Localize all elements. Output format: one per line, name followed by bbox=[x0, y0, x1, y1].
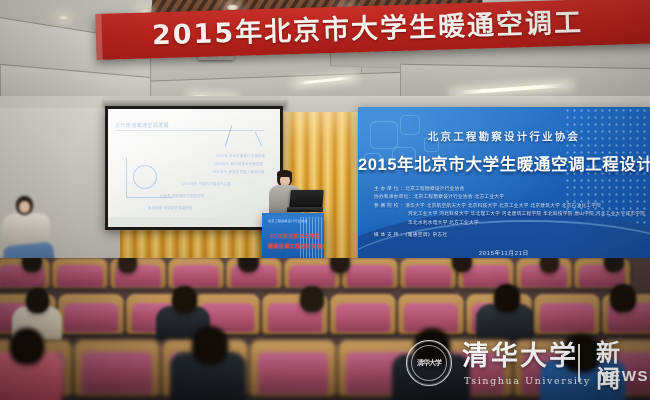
banner-info-line: 华北水利水电大学 北方工业大学 bbox=[374, 219, 642, 227]
attendee-head bbox=[172, 286, 197, 313]
slide-text-line: 1970年代 节能与环保成为主题 bbox=[182, 181, 231, 186]
attendee-head bbox=[494, 284, 520, 312]
projection-screen-surface: 近代暖通暖通空调发展 1902年 开利发明现代空调系统 1920年代 制冷剂技术… bbox=[108, 109, 280, 227]
auditorium-seat bbox=[52, 258, 108, 288]
news-watermark: 清华大学 清华大学 Tsinghua University 新闻 NEWS bbox=[406, 336, 644, 390]
podium-title-line-1: 2015年北京市大学生 bbox=[270, 233, 321, 240]
auditorium-seat bbox=[400, 258, 456, 288]
banner-info-block: 主 办 单 位 ：北京工程勘察设计行业协会 协办和承办单位：北京工程勘察设计行业… bbox=[374, 185, 642, 239]
attendee-head bbox=[26, 288, 49, 313]
auditorium-seat bbox=[168, 258, 224, 288]
blue-backdrop-banner: 北京工程勘察设计行业协会 2015年北京市大学生暖通空调工程设计实践大赛 主 办… bbox=[358, 107, 650, 272]
banner-date: 2015年11月21日 bbox=[358, 249, 650, 257]
banner-organizer-line: 北京工程勘察设计行业协会 bbox=[358, 129, 650, 144]
attendee-head bbox=[330, 258, 350, 273]
slide-text-line: 1950年代 家用空调进入普及阶段 bbox=[212, 169, 265, 174]
slide-footer-bar bbox=[108, 217, 280, 227]
attendee-head bbox=[192, 326, 228, 364]
slide-arrow-icon bbox=[255, 131, 262, 146]
auditorium-seat bbox=[534, 294, 600, 334]
slide-text-line: 1920年代 制冷剂技术快速发展 bbox=[214, 161, 263, 166]
auditorium-seat bbox=[330, 294, 396, 334]
slide-title-rule bbox=[114, 130, 264, 131]
slide-text-line: 近年来 绿色建筑与智能控制 bbox=[160, 193, 204, 198]
banner-info-line: 媒 体 支 持 ：《暖通空调》杂志社 bbox=[374, 231, 642, 239]
attendee-head bbox=[540, 258, 559, 273]
banner-info-line: 河北工业大学 河北科技大学 华北理工大学 河北建筑工程学院 华北科技学院 唐山学… bbox=[374, 210, 642, 218]
tsinghua-seal-icon: 清华大学 bbox=[406, 340, 452, 386]
slide-title: 近代暖通暖通空调发展 bbox=[115, 122, 169, 129]
slide-diagram bbox=[126, 157, 173, 198]
banner-info-line: 主 办 单 位 ：北京工程勘察设计行业协会 bbox=[374, 185, 642, 193]
podium-top-surface bbox=[262, 213, 324, 215]
watermark-university-cn: 清华大学 bbox=[462, 342, 578, 372]
attendee-head bbox=[610, 284, 636, 312]
slide-text-line: 1902年 开利发明现代空调系统 bbox=[216, 153, 265, 158]
watermark-divider bbox=[578, 344, 580, 382]
laptop-screen bbox=[289, 190, 324, 208]
auditorium-seat bbox=[250, 340, 336, 396]
banner-info-line: 协办和承办单位：北京工程勘察设计行业协会 北方工业大学 bbox=[374, 193, 642, 201]
watermark-news-en: NEWS bbox=[598, 368, 649, 385]
projection-screen: 近代暖通暖通空调发展 1902年 开利发明现代空调系统 1920年代 制冷剂技术… bbox=[105, 106, 283, 230]
seal-inner-text: 清华大学 bbox=[411, 345, 447, 381]
attendee-head bbox=[300, 286, 324, 312]
laptop-keyboard bbox=[287, 207, 324, 212]
podium-title-line-2: 暖通空调工程设计实践大赛 bbox=[268, 243, 324, 250]
watermark-university-en: Tsinghua University bbox=[464, 376, 591, 387]
slide-text-line: 未来趋势 低碳高效健康舒适 bbox=[148, 205, 192, 210]
slide-arrow-icon bbox=[225, 125, 233, 146]
ceiling-downlight bbox=[57, 14, 70, 21]
banner-main-title: 2015年北京市大学生暖通空调工程设计实践大赛 bbox=[358, 151, 650, 175]
banner-left-edge bbox=[95, 14, 102, 60]
speaker-hair bbox=[277, 170, 292, 177]
red-banner-text: 2015年北京市大学生暖通空调工 bbox=[96, 9, 584, 50]
auditorium-seat bbox=[74, 340, 160, 396]
conference-hall-photo: 2015年北京市大学生暖通空调工 近代暖通暖通空调发展 1902年 开利发明现代… bbox=[0, 0, 650, 400]
attendee-face bbox=[19, 201, 30, 213]
auditorium-seat bbox=[342, 258, 398, 288]
auditorium-seat bbox=[58, 294, 124, 334]
podium-org-text: 北京工程勘察设计行业协会 bbox=[268, 219, 308, 223]
attendee-head bbox=[10, 328, 44, 364]
attendee-head bbox=[118, 258, 137, 273]
banner-info-line: 参 赛 院 校 ：清华大学 北京航空航天大学 北京科技大学 北京工业大学 北京建… bbox=[374, 202, 642, 210]
